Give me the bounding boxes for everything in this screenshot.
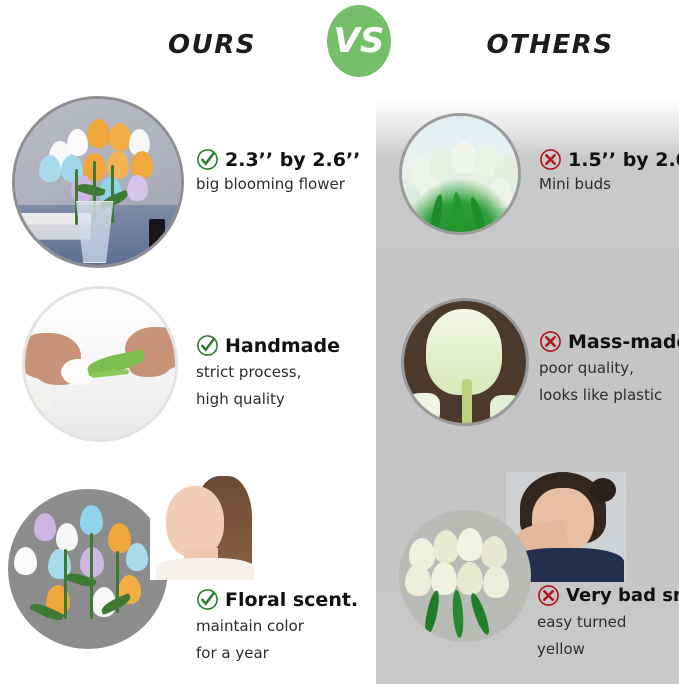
photo-others-mini-buds (399, 113, 521, 235)
ours-scent-sub-line-2: for a year (196, 642, 358, 665)
photo-others-yellowing-tulips (399, 510, 531, 642)
ours-heading: OURS (142, 30, 282, 60)
others-size-sub-line-1: Mini buds (539, 175, 611, 193)
others-scent-title-row: Very bad smell (537, 584, 679, 607)
ours-scent-title: Floral scent. (225, 589, 358, 611)
ours-craft-title: Handmade (225, 335, 340, 357)
others-heading: OTHERS (480, 30, 620, 60)
others-craft-title: Mass-made (568, 331, 679, 353)
ours-feature-size: 2.3’’ by 2.6’’ big blooming flower (196, 148, 360, 196)
header: OURS VS OTHERS (0, 0, 679, 100)
others-size-title: 1.5’’ by 2.0’’ (568, 149, 679, 171)
photo-ours-bouquet (12, 96, 184, 268)
ours-size-title-row: 2.3’’ by 2.6’’ (196, 148, 360, 171)
others-feature-size: 1.5’’ by 2.0’’ Mini buds (539, 148, 679, 196)
comparison-infographic: OURS VS OTHERS (0, 0, 679, 684)
others-size-sub: Mini buds (539, 173, 679, 196)
vs-badge: VS (327, 5, 391, 77)
others-feature-craft: Mass-made poor quality, looks like plast… (539, 330, 679, 408)
ours-scent-sub-line-1: maintain color (196, 615, 358, 638)
ours-size-sub: big blooming flower (196, 173, 360, 196)
ours-craft-sub-line-2: high quality (196, 388, 340, 411)
others-scent-sub-line-2: yellow (537, 638, 679, 661)
check-circle-icon (196, 148, 219, 171)
cross-circle-icon (537, 584, 560, 607)
others-scent-title: Very bad smell (566, 585, 679, 606)
others-size-title-row: 1.5’’ by 2.0’’ (539, 148, 679, 171)
cross-circle-icon (539, 148, 562, 171)
ours-scent-sub: maintain color for a year (196, 615, 358, 666)
photo-others-massmade (401, 298, 529, 426)
ours-scent-title-row: Floral scent. (196, 588, 358, 611)
ours-craft-sub: strict process, high quality (196, 361, 340, 412)
check-circle-icon (196, 334, 219, 357)
others-feature-scent: Very bad smell easy turned yellow (537, 584, 679, 662)
check-circle-icon (196, 588, 219, 611)
others-craft-title-row: Mass-made (539, 330, 679, 353)
cross-circle-icon (539, 330, 562, 353)
others-craft-sub-line-1: poor quality, (539, 357, 679, 380)
ours-feature-scent: Floral scent. maintain color for a year (196, 588, 358, 666)
photo-woman-smelling-flowers (150, 472, 254, 580)
ours-size-sub-line-1: big blooming flower (196, 175, 345, 193)
ours-feature-craft: Handmade strict process, high quality (196, 334, 340, 412)
others-scent-sub: easy turned yellow (537, 611, 679, 662)
vs-label: VS (334, 21, 385, 61)
ours-size-title: 2.3’’ by 2.6’’ (225, 149, 360, 171)
others-scent-sub-line-1: easy turned (537, 611, 679, 634)
photo-ours-scent (8, 489, 168, 649)
others-craft-sub: poor quality, looks like plastic (539, 357, 679, 408)
photo-ours-handmade (22, 286, 178, 442)
ours-craft-title-row: Handmade (196, 334, 340, 357)
ours-craft-sub-line-1: strict process, (196, 361, 340, 384)
others-craft-sub-line-2: looks like plastic (539, 384, 679, 407)
